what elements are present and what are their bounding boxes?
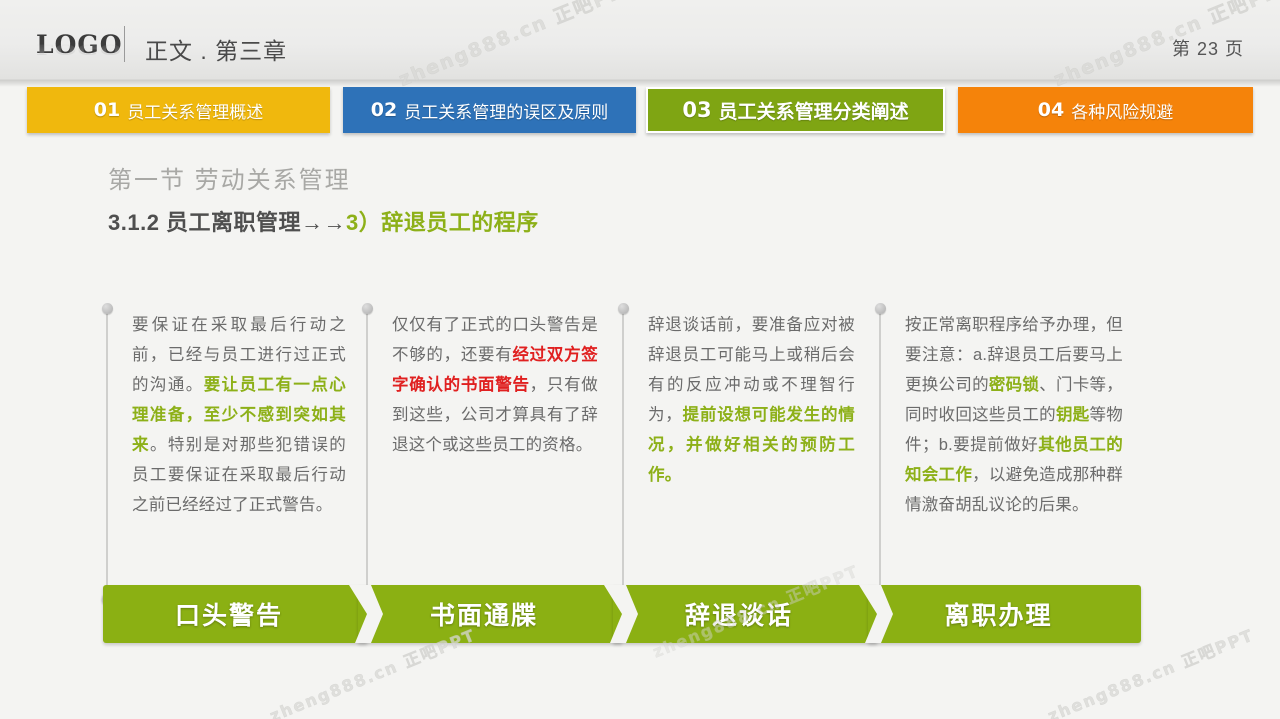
header-divider bbox=[124, 26, 125, 62]
paragraph-run-green: 密码锁 bbox=[989, 376, 1039, 394]
nav-tab-number: 01 bbox=[94, 99, 120, 121]
nav-tab-01[interactable]: 01员工关系管理概述 bbox=[27, 87, 330, 133]
page-number: 第 23 页 bbox=[1172, 35, 1244, 61]
process-step-2[interactable]: 书面通牒 bbox=[358, 585, 622, 643]
column-paragraph: 辞退谈话前，要准备应对被辞退员工可能马上或稍后会有的反应冲动或不理智行为，提前设… bbox=[648, 310, 855, 490]
column-connector-dot-top bbox=[618, 303, 629, 314]
process-step-label: 离职办理 bbox=[944, 596, 1052, 632]
column-connector-line bbox=[879, 308, 881, 601]
nav-tab-label: 员工关系管理分类阐述 bbox=[719, 97, 909, 124]
nav-tab-label: 各种风险规避 bbox=[1071, 98, 1173, 123]
slide-canvas: LOGO LOGO 正文 . 第三章 第 23 页 01员工关系管理概述02员工… bbox=[0, 0, 1280, 719]
nav-tab-04[interactable]: 04各种风险规避 bbox=[958, 87, 1253, 133]
process-step-label: 辞退谈话 bbox=[685, 596, 793, 632]
process-step-label: 口头警告 bbox=[175, 596, 283, 632]
process-step-1[interactable]: 口头警告 bbox=[103, 585, 367, 643]
chapter-nav-tabs: 01员工关系管理概述02员工关系管理的误区及原则03员工关系管理分类阐述04各种… bbox=[0, 87, 1280, 133]
column-connector-line bbox=[366, 308, 368, 601]
column-connector-dot-top bbox=[102, 303, 113, 314]
slide-header: LOGO LOGO 正文 . 第三章 第 23 页 bbox=[0, 0, 1280, 80]
paragraph-run-normal: 。特别是对那些犯错误的员工要保证在采取最后行动之前已经经过了正式警告。 bbox=[132, 436, 346, 514]
column-paragraph: 按正常离职程序给予办理，但要注意：a.辞退员工后要马上更换公司的密码锁、门卡等，… bbox=[905, 310, 1123, 520]
nav-tab-label: 员工关系管理的误区及原则 bbox=[404, 98, 608, 123]
column-connector-dot-top bbox=[362, 303, 373, 314]
header-shadow bbox=[0, 80, 1280, 87]
column-paragraph: 仅仅有了正式的口头警告是不够的，还要有经过双方签字确认的书面警告，只有做到这些，… bbox=[392, 310, 598, 460]
nav-tab-label: 员工关系管理概述 bbox=[127, 98, 263, 123]
sub-title: 3.1.2 员工离职管理→→3）辞退员工的程序 bbox=[108, 205, 539, 237]
process-step-4[interactable]: 离职办理 bbox=[868, 585, 1141, 643]
section-label: 第一节 劳动关系管理 bbox=[108, 160, 351, 195]
nav-tab-02[interactable]: 02员工关系管理的误区及原则 bbox=[343, 87, 636, 133]
paragraph-run-green: 钥匙 bbox=[1056, 406, 1090, 424]
process-step-3[interactable]: 辞退谈话 bbox=[613, 585, 877, 643]
logo-reflection: LOGO bbox=[36, 41, 122, 57]
column-connector-dot-top bbox=[875, 303, 886, 314]
nav-tab-number: 04 bbox=[1038, 99, 1064, 121]
sub-title-accent: 3）辞退员工的程序 bbox=[346, 210, 539, 235]
column-connector-line bbox=[622, 308, 624, 601]
header-title: 正文 . 第三章 bbox=[145, 32, 287, 66]
nav-tab-number: 03 bbox=[682, 98, 711, 122]
column-connector-line bbox=[106, 308, 108, 601]
column-paragraph: 要保证在采取最后行动之前，已经与员工进行过正式的沟通。要让员工有一点心理准备，至… bbox=[132, 310, 346, 520]
nav-tab-03[interactable]: 03员工关系管理分类阐述 bbox=[646, 87, 945, 133]
nav-tab-number: 02 bbox=[371, 99, 397, 121]
process-step-label: 书面通牒 bbox=[430, 596, 538, 632]
process-chevron-bar: 口头警告书面通牒辞退谈话离职办理 bbox=[103, 585, 1141, 643]
sub-title-prefix: 3.1.2 员工离职管理→→ bbox=[108, 210, 346, 235]
